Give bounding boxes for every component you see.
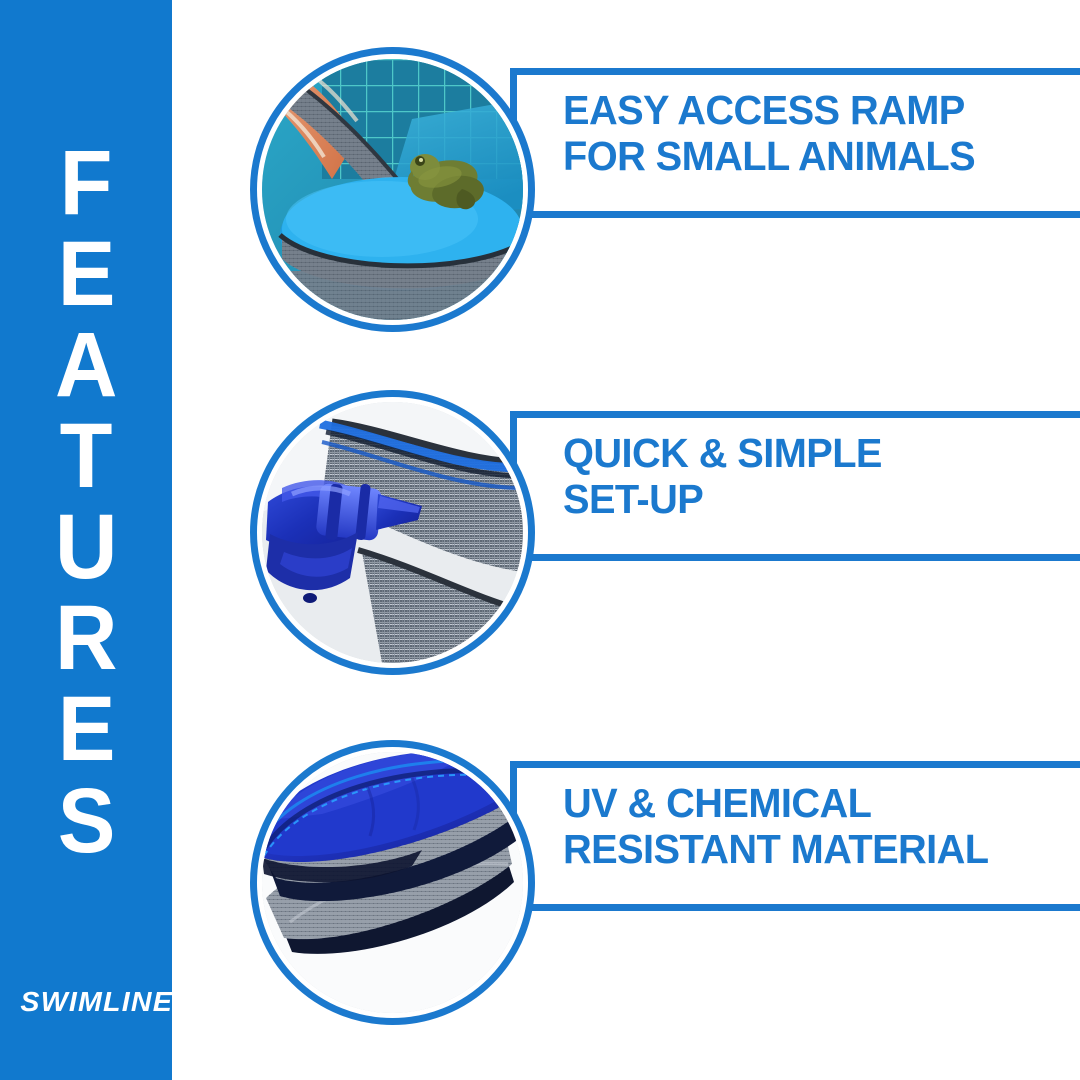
feature-image-circle (250, 390, 535, 675)
bracket-top-line (510, 411, 1080, 418)
feature-photo (262, 402, 523, 663)
feature-image-circle (250, 47, 535, 332)
caption-line-1: UV & CHEMICAL (563, 780, 871, 826)
bracket-top-line (510, 68, 1080, 75)
caption-line-1: EASY ACCESS RAMP (563, 87, 965, 133)
caption-line-2: SET-UP (563, 477, 1067, 523)
feature-row: UV & CHEMICAL RESISTANT MATERIAL (0, 733, 1080, 1033)
bracket-bottom-line (510, 554, 1080, 561)
feature-caption: EASY ACCESS RAMP FOR SMALL ANIMALS (563, 88, 1067, 180)
caption-line-2: RESISTANT MATERIAL (563, 827, 1067, 873)
bracket-bottom-line (510, 904, 1080, 911)
bracket-bottom-line (510, 211, 1080, 218)
caption-line-2: FOR SMALL ANIMALS (563, 134, 1067, 180)
caption-line-1: QUICK & SIMPLE (563, 430, 882, 476)
feature-row: EASY ACCESS RAMP FOR SMALL ANIMALS (0, 40, 1080, 340)
feature-image-circle (250, 740, 535, 1025)
feature-photo (262, 59, 523, 320)
bracket-top-line (510, 761, 1080, 768)
feature-caption: UV & CHEMICAL RESISTANT MATERIAL (563, 781, 1067, 873)
feature-photo (262, 752, 523, 1013)
feature-row: QUICK & SIMPLE SET-UP (0, 383, 1080, 683)
feature-caption: QUICK & SIMPLE SET-UP (563, 431, 1067, 523)
